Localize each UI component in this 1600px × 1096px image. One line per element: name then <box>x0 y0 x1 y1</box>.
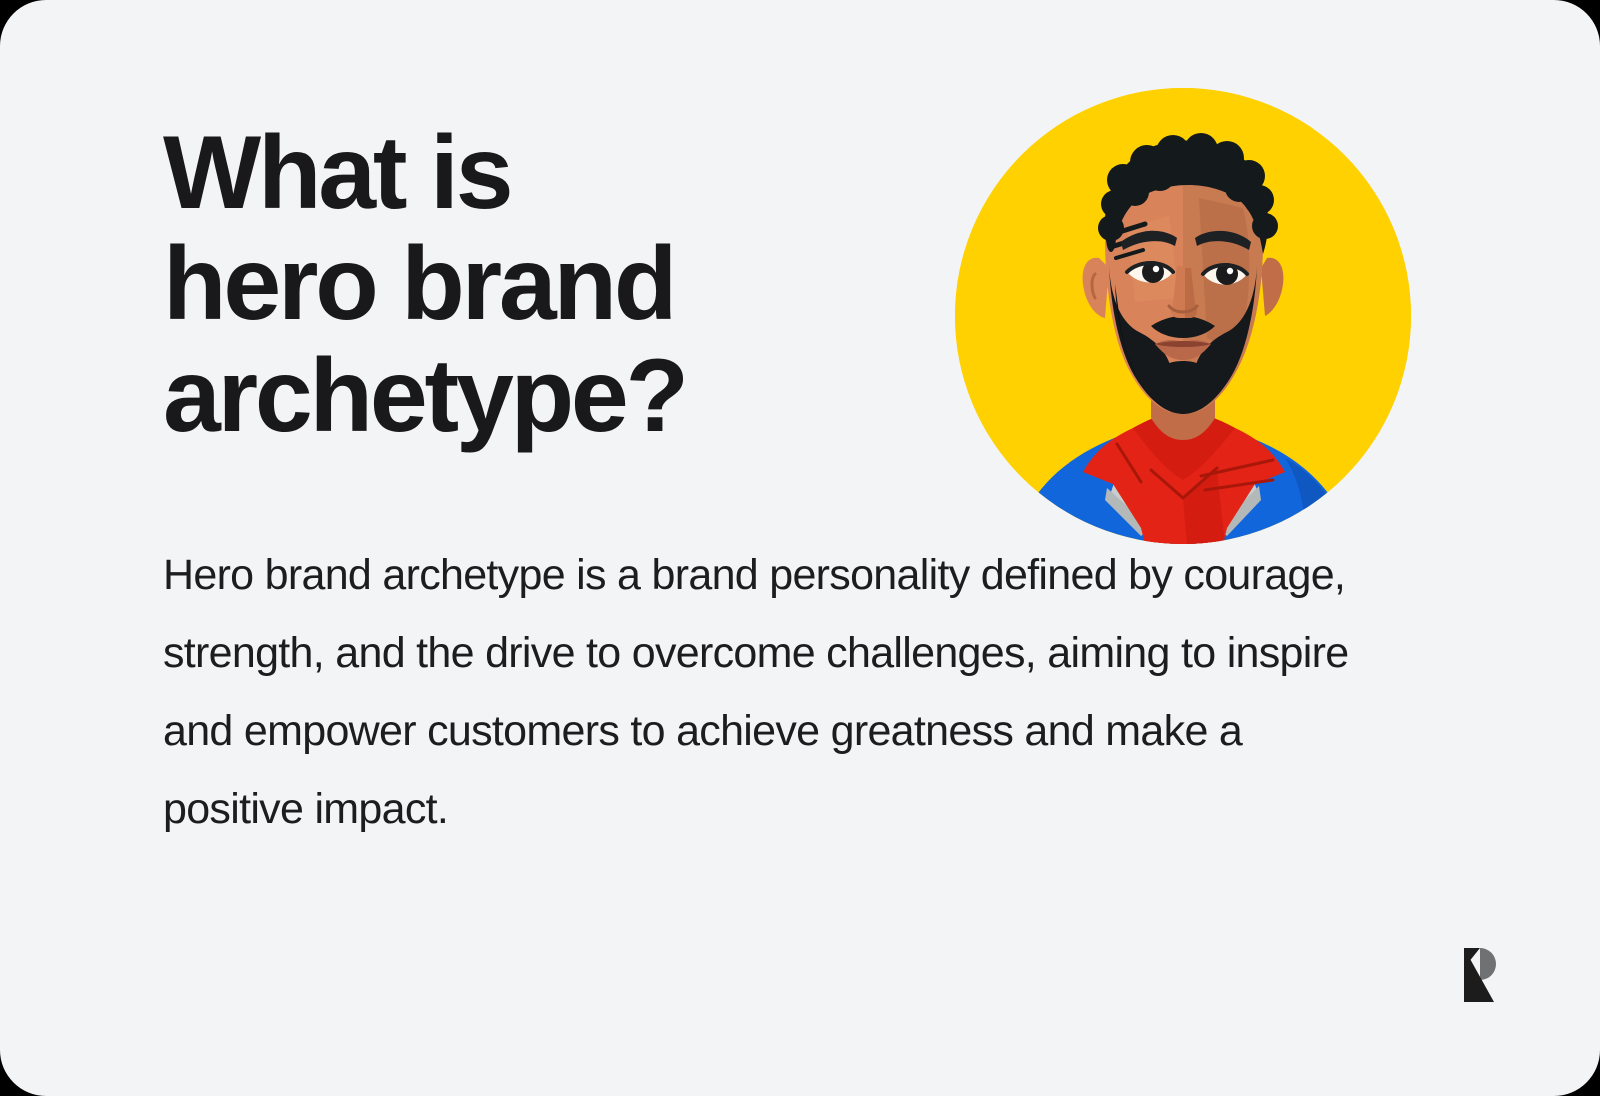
body-paragraph: Hero brand archetype is a brand personal… <box>163 536 1363 848</box>
page-title: What is hero brand archetype? <box>163 118 723 452</box>
brand-logo-icon <box>1452 946 1508 1004</box>
content-card: What is hero brand archetype? Hero brand… <box>0 0 1600 1096</box>
avatar <box>955 88 1411 544</box>
